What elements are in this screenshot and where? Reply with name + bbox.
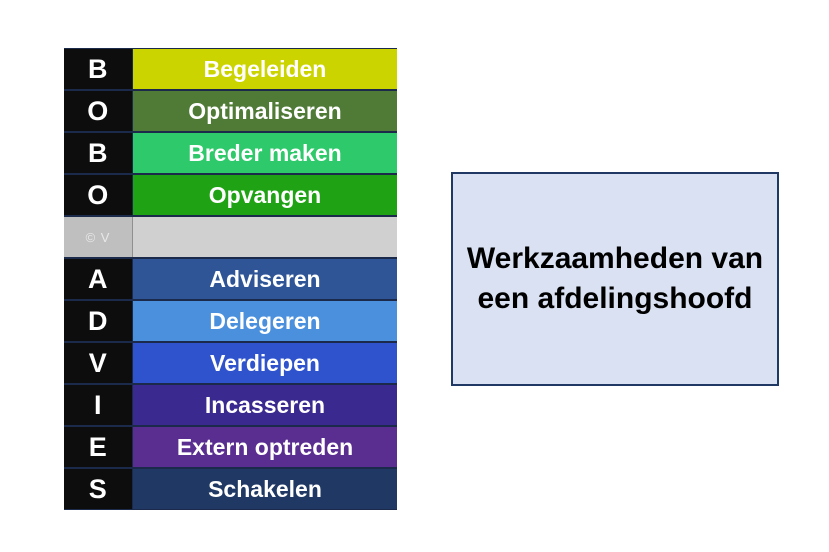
acronym-row: © V: [64, 216, 397, 258]
acronym-label: Optimaliseren: [133, 91, 397, 131]
copyright-mark: © V: [64, 217, 133, 257]
acronym-letter: B: [64, 133, 133, 173]
acronym-row: BBegeleiden: [64, 48, 397, 90]
title-text: Werkzaamheden van een afdelingshoofd: [453, 239, 777, 320]
acronym-row: VVerdiepen: [64, 342, 397, 384]
acronym-letter: O: [64, 91, 133, 131]
acronym-row: OOpvangen: [64, 174, 397, 216]
acronym-letter: D: [64, 301, 133, 341]
acronym-label: [133, 217, 397, 257]
acronym-letter: I: [64, 385, 133, 425]
acronym-row: AAdviseren: [64, 258, 397, 300]
acronym-label: Verdiepen: [133, 343, 397, 383]
title-box: Werkzaamheden van een afdelingshoofd: [451, 172, 779, 386]
acronym-row: IIncasseren: [64, 384, 397, 426]
acronym-letter: O: [64, 175, 133, 215]
acronym-table: BBegeleidenOOptimaliserenBBreder makenOO…: [64, 48, 397, 510]
acronym-label: Schakelen: [133, 469, 397, 509]
acronym-letter: E: [64, 427, 133, 467]
acronym-letter: V: [64, 343, 133, 383]
acronym-letter: S: [64, 469, 133, 509]
acronym-letter: B: [64, 49, 133, 89]
acronym-label: Begeleiden: [133, 49, 397, 89]
acronym-label: Breder maken: [133, 133, 397, 173]
acronym-row: EExtern optreden: [64, 426, 397, 468]
acronym-label: Adviseren: [133, 259, 397, 299]
acronym-row: DDelegeren: [64, 300, 397, 342]
acronym-row: BBreder maken: [64, 132, 397, 174]
acronym-label: Incasseren: [133, 385, 397, 425]
acronym-label: Delegeren: [133, 301, 397, 341]
acronym-row: SSchakelen: [64, 468, 397, 510]
acronym-label: Opvangen: [133, 175, 397, 215]
acronym-label: Extern optreden: [133, 427, 397, 467]
acronym-row: OOptimaliseren: [64, 90, 397, 132]
acronym-letter: A: [64, 259, 133, 299]
